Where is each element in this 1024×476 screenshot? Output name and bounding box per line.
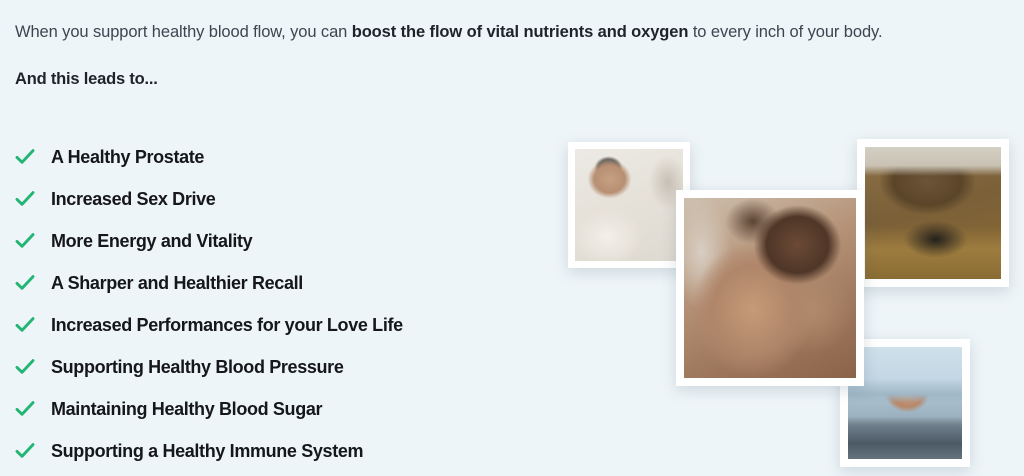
list-item: Supporting Healthy Blood Pressure bbox=[14, 346, 534, 388]
lead-in-text: And this leads to... bbox=[15, 67, 158, 91]
photo-mountain-biker-image bbox=[865, 147, 1001, 279]
list-item: Increased Performances for your Love Lif… bbox=[14, 304, 534, 346]
list-item-label: Maintaining Healthy Blood Sugar bbox=[51, 398, 322, 420]
list-item-label: A Sharper and Healthier Recall bbox=[51, 272, 303, 294]
check-icon bbox=[14, 440, 36, 462]
list-item: Supporting a Healthy Immune System bbox=[14, 430, 534, 472]
list-item: Increased Sex Drive bbox=[14, 178, 534, 220]
check-icon bbox=[14, 314, 36, 336]
photo-smiling-older-man bbox=[568, 142, 690, 268]
check-icon bbox=[14, 146, 36, 168]
photo-smiling-older-man-image bbox=[575, 149, 683, 261]
check-icon bbox=[14, 230, 36, 252]
list-item-label: Increased Performances for your Love Lif… bbox=[51, 314, 403, 336]
promo-benefits-section: When you support healthy blood flow, you… bbox=[0, 0, 1024, 476]
intro-text-before: When you support healthy blood flow, you… bbox=[15, 23, 352, 41]
check-icon bbox=[14, 356, 36, 378]
list-item-label: Supporting a Healthy Immune System bbox=[51, 440, 363, 462]
list-item-label: Increased Sex Drive bbox=[51, 188, 215, 210]
photo-embracing-couple-image bbox=[684, 198, 856, 378]
list-item: A Sharper and Healthier Recall bbox=[14, 262, 534, 304]
list-item: More Energy and Vitality bbox=[14, 220, 534, 262]
photo-man-swimming-image bbox=[848, 347, 962, 459]
photo-mountain-biker bbox=[857, 139, 1009, 287]
intro-text-after: to every inch of your body. bbox=[688, 23, 882, 41]
list-item: Maintaining Healthy Blood Sugar bbox=[14, 388, 534, 430]
check-icon bbox=[14, 398, 36, 420]
check-icon bbox=[14, 272, 36, 294]
check-icon bbox=[14, 188, 36, 210]
list-item-label: A Healthy Prostate bbox=[51, 146, 204, 168]
photo-embracing-couple bbox=[676, 190, 864, 386]
benefits-list: A Healthy Prostate Increased Sex Drive M… bbox=[14, 136, 534, 472]
list-item-label: More Energy and Vitality bbox=[51, 230, 252, 252]
list-item: A Healthy Prostate bbox=[14, 136, 534, 178]
list-item-label: Supporting Healthy Blood Pressure bbox=[51, 356, 344, 378]
intro-emphasis: boost the flow of vital nutrients and ox… bbox=[352, 23, 689, 41]
intro-paragraph: When you support healthy blood flow, you… bbox=[15, 20, 1015, 44]
